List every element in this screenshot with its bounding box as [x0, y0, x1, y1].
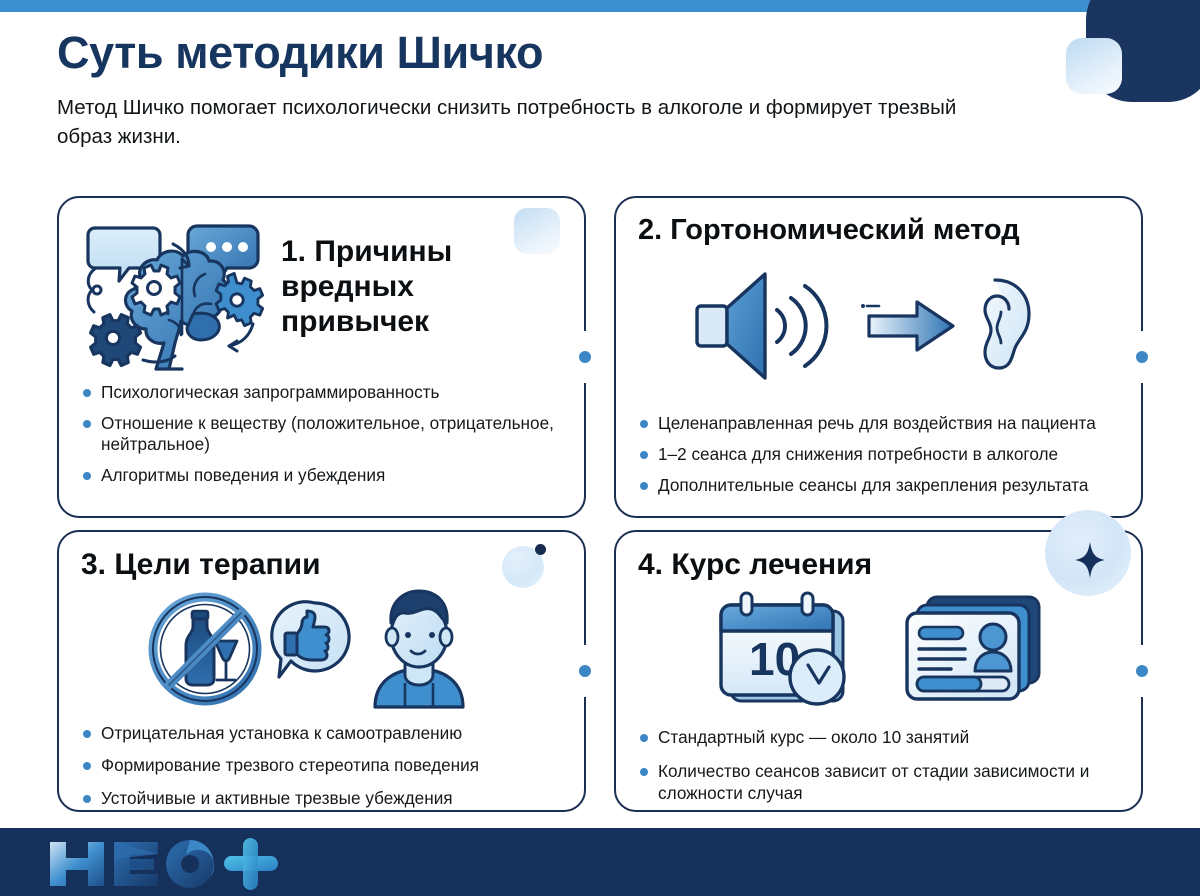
card-title: 2. Гортономический метод: [638, 214, 1119, 247]
list-item: Формирование трезвого стереотипа поведен…: [81, 755, 562, 777]
card-title: 4. Курс лечения: [638, 548, 1119, 583]
list-item: Отношение к веществу (положительное, отр…: [81, 413, 562, 456]
sparkle-icon: [1075, 542, 1105, 583]
list-item: Отрицательная установка к самоотравлению: [81, 723, 562, 745]
page-subtitle: Метод Шичко помогает психологически сниз…: [57, 94, 957, 151]
header: Суть методики Шичко Метод Шичко помогает…: [57, 28, 1077, 151]
decorative-navy-dot: [535, 544, 546, 555]
card-title: 3. Цели терапии: [81, 548, 562, 583]
card-grid: 1. Причины вредных привычек Психологичес…: [57, 196, 1143, 812]
list-item: Алгоритмы поведения и убеждения: [81, 465, 562, 487]
card-treatment-course[interactable]: 4. Курс лечения: [614, 530, 1143, 812]
list-item: Количество сеансов зависит от стадии зав…: [638, 761, 1119, 804]
list-item: Стандартный курс — около 10 занятий: [638, 727, 1119, 749]
list-item: Целенаправленная речь для воздействия на…: [638, 413, 1119, 435]
card-title: 1. Причины вредных привычек: [281, 214, 562, 339]
footer-bar: [0, 828, 1200, 896]
card-gortonomic-method[interactable]: 2. Гортономический метод: [614, 196, 1143, 518]
card-bullet-list: Стандартный курс — около 10 занятий Коли…: [638, 727, 1119, 805]
page-title: Суть методики Шичко: [57, 28, 1077, 78]
list-item: Дополнительные сеансы для закрепления ре…: [638, 475, 1119, 497]
calendar-clock-idcards-icon: 10: [638, 585, 1119, 713]
card-edge-dot: [1136, 351, 1148, 363]
card-bullet-list: Отрицательная установка к самоотравлению…: [81, 723, 562, 810]
card-bullet-list: Психологическая запрограммированность От…: [81, 382, 562, 487]
card-therapy-goals[interactable]: 3. Цели терапии: [57, 530, 586, 812]
brand-logo: [42, 836, 292, 896]
no-alcohol-thumbsup-person-icon: [81, 585, 562, 713]
list-item: Устойчивые и активные трезвые убеждения: [81, 788, 562, 810]
card-edge-dot: [1136, 665, 1148, 677]
card-edge-dot: [579, 351, 591, 363]
brain-gears-speech-bubbles-icon: [81, 214, 271, 377]
list-item: 1–2 сеанса для снижения потребности в ал…: [638, 444, 1119, 466]
speaker-arrow-ear-icon: [638, 251, 1119, 401]
card-bullet-list: Целенаправленная речь для воздействия на…: [638, 413, 1119, 496]
card-causes-of-bad-habits[interactable]: 1. Причины вредных привычек Психологичес…: [57, 196, 586, 518]
card-edge-dot: [579, 665, 591, 677]
top-accent-strip: [0, 0, 1098, 12]
list-item: Психологическая запрограммированность: [81, 382, 562, 404]
